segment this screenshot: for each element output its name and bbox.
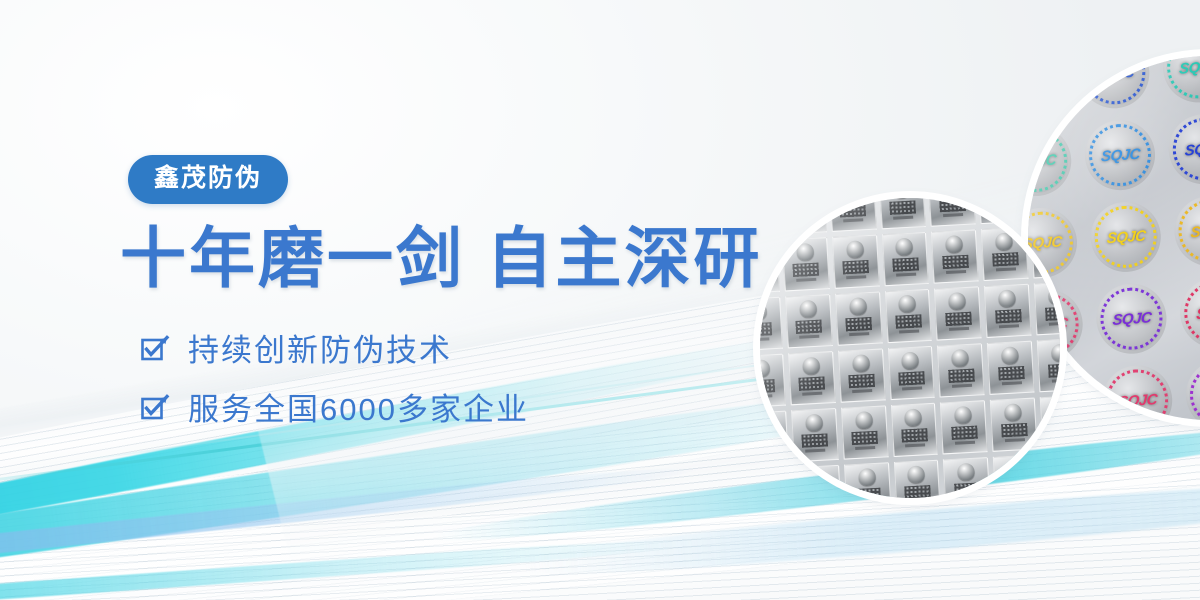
- silver-label: [937, 343, 985, 397]
- silver-label: [844, 462, 892, 498]
- list-item: 服务全国6000多家企业: [140, 393, 529, 428]
- silver-label: [760, 240, 780, 294]
- silver-label: [934, 286, 982, 340]
- silver-label: [1037, 338, 1060, 392]
- silver-label: [987, 341, 1035, 395]
- holo-label: SQJC: [1083, 118, 1158, 193]
- silver-label: [981, 227, 1029, 281]
- silver-label: [879, 198, 927, 229]
- brand-badge: 鑫茂防伪: [128, 155, 288, 204]
- silver-label: [760, 354, 786, 408]
- list-item-label: 服务全国6000多家企业: [188, 393, 529, 427]
- holo-label: SQJC: [1161, 56, 1200, 105]
- silver-label: [888, 346, 936, 400]
- silver-label: [829, 198, 877, 232]
- silver-label: [832, 235, 880, 289]
- silver-label: [1040, 395, 1060, 449]
- list-item: 持续创新防伪技术: [140, 334, 529, 369]
- silver-label: [940, 400, 988, 454]
- holo-label: SQJC: [1184, 357, 1200, 420]
- silver-label: [894, 460, 942, 498]
- silver-label: [791, 408, 839, 462]
- silver-label: [794, 465, 842, 498]
- silver-label: [1028, 198, 1060, 222]
- holo-label: SQJC: [1088, 200, 1163, 275]
- silver-label: [788, 351, 836, 405]
- page-title: 十年磨一剑 自主深研: [120, 222, 762, 296]
- silver-label: [978, 198, 1026, 224]
- silver-labels-photo: [760, 198, 1060, 498]
- silver-label: [841, 405, 889, 459]
- holo-label: SQJC: [1166, 112, 1200, 187]
- silver-label: [760, 411, 789, 465]
- silver-label: [891, 403, 939, 457]
- holo-label: SQJC: [1100, 363, 1175, 420]
- holo-label: SQJC: [1028, 56, 1068, 116]
- cyan-ribbon: [0, 460, 698, 584]
- silver-label: [779, 198, 827, 235]
- silver-label-grid: [760, 198, 1060, 498]
- checkbox-checked-icon: [140, 334, 170, 369]
- promo-banner: SQJC SQJC SQJC SQJC SQJC SQJC SQJC SQJC …: [0, 0, 1200, 600]
- list-item-label: 持续创新防伪技术: [188, 334, 452, 368]
- silver-label: [928, 198, 976, 227]
- silver-label: [990, 398, 1038, 452]
- silver-label: [838, 348, 886, 402]
- silver-label: [943, 457, 991, 498]
- silver-label: [882, 232, 930, 286]
- cyan-ribbon: [0, 535, 699, 600]
- feature-list: 持续创新防伪技术 服务全国6000多家企业: [140, 334, 529, 428]
- silver-label: [984, 284, 1032, 338]
- silver-label: [931, 229, 979, 283]
- silver-label: [782, 237, 830, 291]
- silver-label: [1034, 281, 1060, 335]
- holo-label: SQJC: [1094, 281, 1169, 356]
- silver-label: [760, 198, 777, 237]
- silver-label: [760, 467, 792, 498]
- silver-label: [1043, 452, 1060, 498]
- silver-label: [885, 289, 933, 343]
- holo-label: SQJC: [1172, 194, 1200, 269]
- checkbox-checked-icon: [140, 393, 170, 428]
- holo-label: SQJC: [1178, 275, 1200, 350]
- silver-label: [785, 294, 833, 348]
- holo-label: SQJC: [1077, 56, 1152, 111]
- holo-label: SQJC: [1028, 124, 1074, 199]
- silver-label: [993, 454, 1041, 498]
- silver-label: [835, 292, 883, 346]
- silver-label: [760, 297, 783, 351]
- silver-label: [1031, 224, 1060, 278]
